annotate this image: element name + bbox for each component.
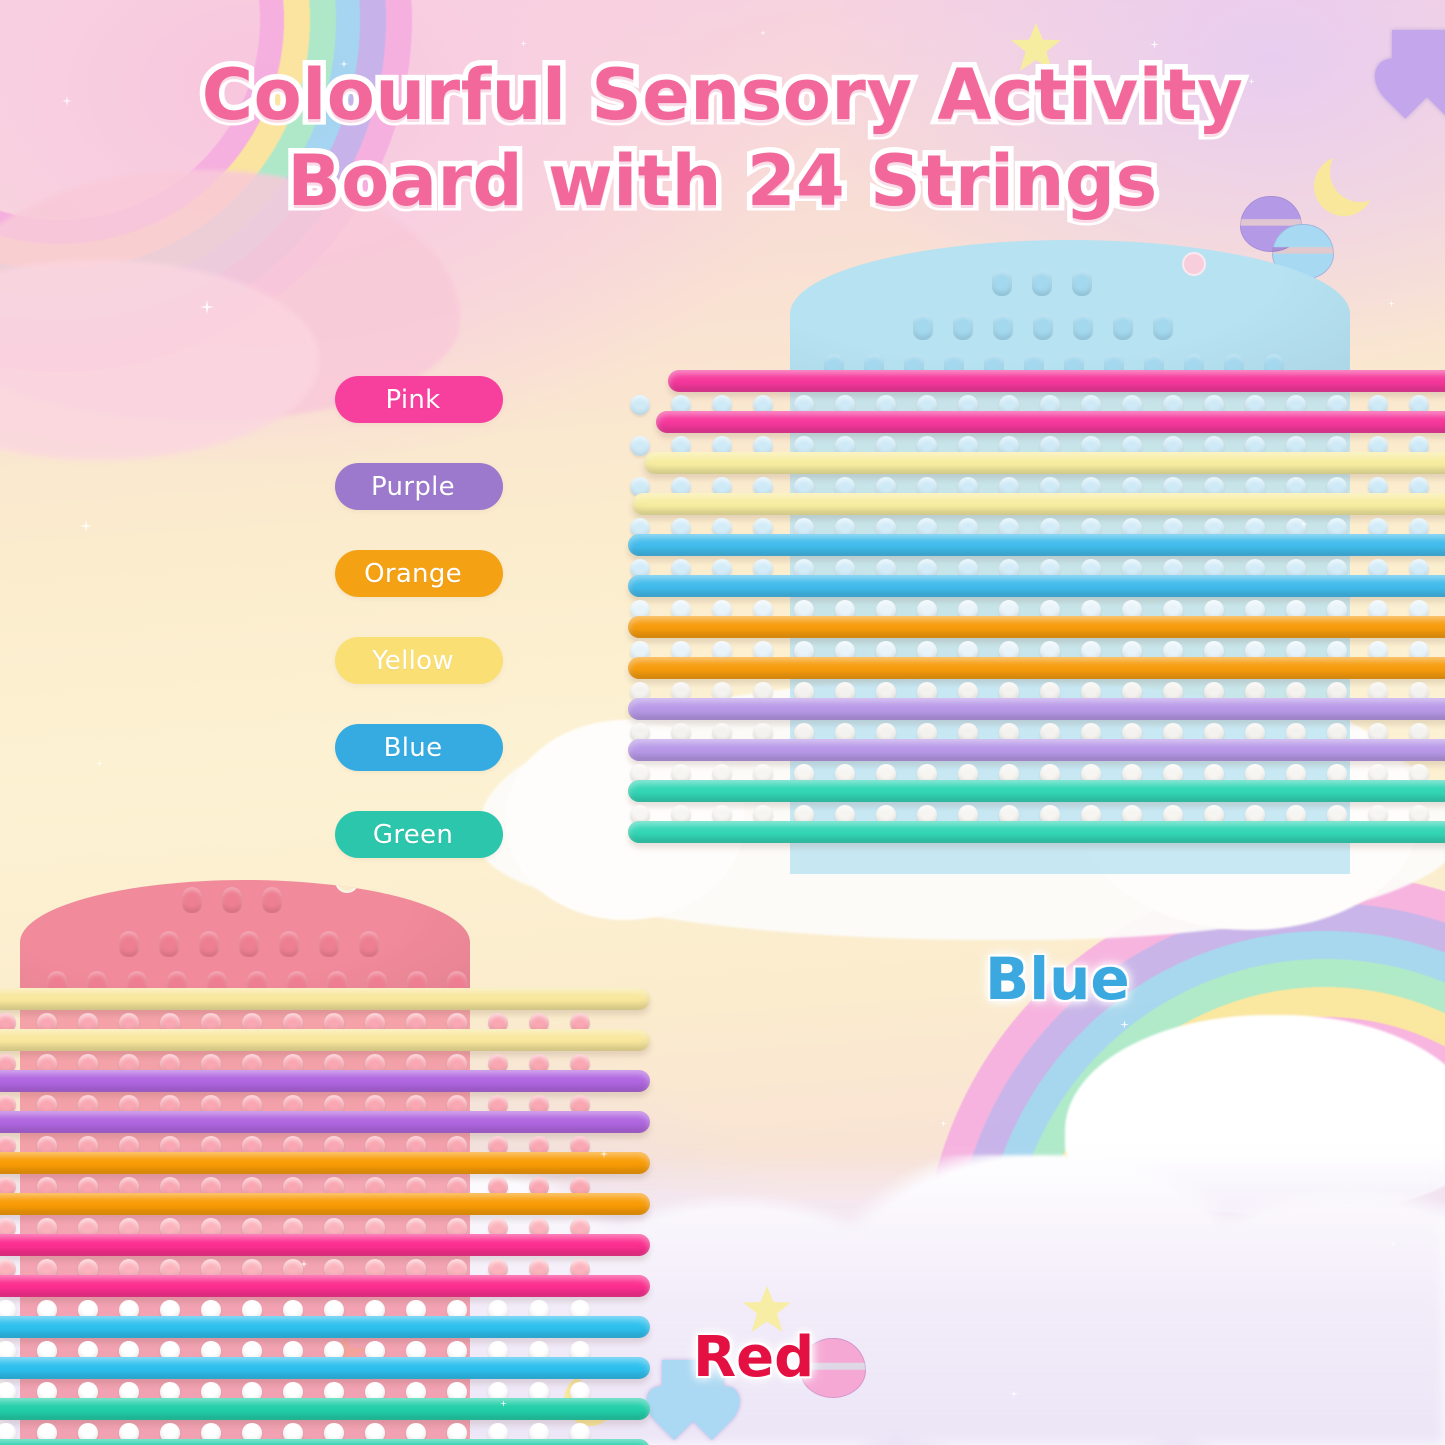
legend-pill-label: Yellow: [372, 646, 454, 676]
blue-board-peg: [992, 270, 1012, 296]
red-board-string[interactable]: [0, 1357, 650, 1379]
red-board-string[interactable]: [0, 1316, 650, 1338]
blue-board-string[interactable]: [628, 657, 1445, 679]
legend-pill-label: Orange: [364, 559, 462, 589]
blue-board-string[interactable]: [628, 821, 1445, 843]
red-board-string[interactable]: [0, 1234, 650, 1256]
red-board-string[interactable]: [0, 1398, 650, 1420]
blue-board-peg-row: [992, 270, 1112, 296]
blue-board-peg: [1072, 270, 1092, 296]
red-board-dome: [20, 880, 470, 1005]
red-board-peg: [222, 887, 242, 913]
blue-board-peg-dot: [630, 436, 650, 456]
product-image-canvas: Colourful Sensory Activity Board with 24…: [0, 0, 1445, 1445]
red-board-string[interactable]: [0, 1029, 650, 1051]
red-board-peg: [199, 931, 219, 957]
blue-board-string[interactable]: [628, 534, 1445, 556]
red-board-peg-row: [119, 931, 399, 957]
blue-board-string[interactable]: [628, 698, 1445, 720]
red-board-peg: [159, 931, 179, 957]
red-board-peg: [239, 931, 259, 957]
red-board-peg: [359, 931, 379, 957]
legend-pill-blue[interactable]: Blue: [335, 724, 503, 771]
red-board-string[interactable]: [0, 1275, 650, 1297]
legend-pill-green[interactable]: Green: [335, 811, 503, 858]
red-board-string[interactable]: [0, 1070, 650, 1092]
blue-board-peg: [953, 314, 973, 340]
blue-board-string[interactable]: [632, 493, 1445, 515]
legend-pill-purple[interactable]: Purple: [335, 463, 503, 510]
legend-pill-orange[interactable]: Orange: [335, 550, 503, 597]
page-title: Colourful Sensory Activity Board with 24…: [0, 52, 1445, 224]
legend-pill-yellow[interactable]: Yellow: [335, 637, 503, 684]
blue-board-hanging-hole: [1182, 252, 1206, 276]
red-board-string[interactable]: [0, 1193, 650, 1215]
title-line-1: Colourful Sensory Activity: [0, 52, 1445, 138]
blue-board-string[interactable]: [656, 411, 1445, 433]
red-board-peg-row: [182, 887, 302, 913]
red-board[interactable]: [0, 880, 610, 1445]
red-board-label: Red: [693, 1325, 814, 1390]
legend-pill-label: Purple: [371, 472, 455, 502]
title-line-2: Board with 24 Strings: [0, 138, 1445, 224]
red-board-string[interactable]: [0, 1111, 650, 1133]
red-board-string[interactable]: [0, 1152, 650, 1174]
blue-board-string[interactable]: [628, 575, 1445, 597]
red-board-peg: [119, 931, 139, 957]
legend-pill-label: Green: [373, 820, 453, 850]
blue-board-string[interactable]: [644, 452, 1445, 474]
blue-board-string[interactable]: [628, 616, 1445, 638]
red-board-peg: [262, 887, 282, 913]
blue-board-string[interactable]: [628, 739, 1445, 761]
colour-legend: PinkPurpleOrangeYellowBlueGreen: [335, 376, 503, 898]
legend-pill-label: Blue: [384, 733, 443, 763]
blue-board[interactable]: [600, 240, 1445, 880]
red-board-peg: [182, 887, 202, 913]
legend-pill-label: Pink: [385, 385, 440, 415]
blue-board-peg: [913, 314, 933, 340]
blue-board-string[interactable]: [628, 780, 1445, 802]
blue-board-dome: [790, 240, 1350, 388]
blue-board-peg: [1153, 314, 1173, 340]
red-board-string[interactable]: [0, 988, 650, 1010]
blue-board-peg: [1033, 314, 1053, 340]
blue-board-peg: [993, 314, 1013, 340]
red-board-peg: [319, 931, 339, 957]
blue-board-peg: [1073, 314, 1093, 340]
legend-pill-pink[interactable]: Pink: [335, 376, 503, 423]
blue-board-label: Blue: [985, 945, 1130, 1013]
blue-board-peg-dot: [630, 395, 650, 415]
blue-board-string[interactable]: [668, 370, 1445, 392]
red-board-peg: [279, 931, 299, 957]
blue-board-peg: [1032, 270, 1052, 296]
blue-board-peg: [1113, 314, 1133, 340]
blue-board-peg-row: [913, 314, 1193, 340]
red-board-string[interactable]: [0, 1439, 650, 1445]
